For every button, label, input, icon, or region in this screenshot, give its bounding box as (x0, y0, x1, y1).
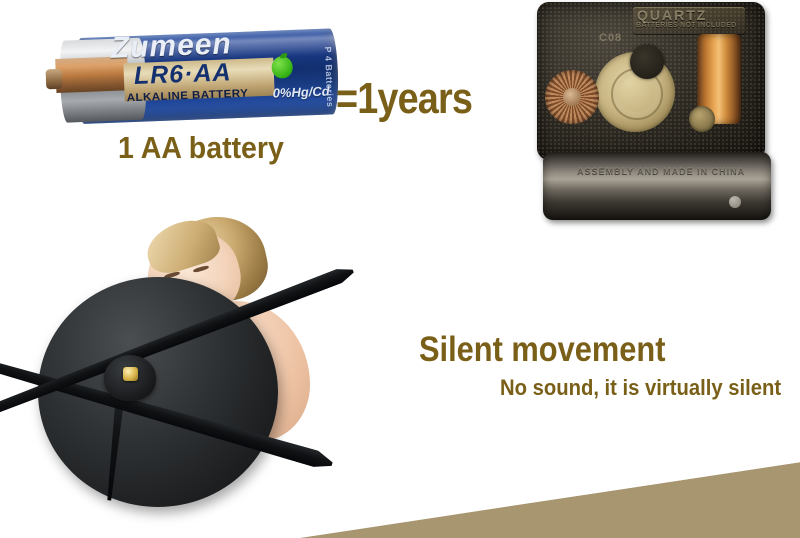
green-apple-icon (271, 56, 293, 79)
aa-battery-photo: Zumeen LR6·AA ALKALINE BATTERY 0%Hg/Cd P… (28, 18, 344, 138)
product-marketing-image: Zumeen LR6·AA ALKALINE BATTERY 0%Hg/Cd P… (0, 0, 800, 538)
battery-terminal-nub (46, 69, 63, 90)
movement-housing: QUARTZ BATTERIES NOT INCLUDED C08 (537, 2, 765, 160)
lid-screw-icon (729, 196, 741, 208)
battery-eco-text: 0%Hg/Cd (272, 84, 330, 101)
silent-movement-heading: Silent movement (419, 330, 665, 370)
battery-compartment-lid: ASSEMBLY AND MADE IN CHINA (543, 152, 771, 220)
battery-caption-label: 1 AA battery (118, 130, 284, 166)
pinion-gear-icon (630, 45, 664, 79)
movement-code-text: C08 (599, 32, 622, 44)
copper-rotor-icon (545, 70, 599, 124)
brass-contact-icon (689, 106, 715, 132)
battery-side-text: P 4 Batteries (323, 46, 335, 107)
brass-center-nut (123, 367, 138, 381)
clock-hands-composite (0, 215, 400, 515)
battery-model-text: LR6·AA (133, 58, 232, 91)
movement-quartz-text: QUARTZ (637, 7, 707, 23)
quartz-movement-photo: QUARTZ BATTERIES NOT INCLUDED C08 ASSEMB… (537, 2, 781, 224)
movement-emboss-plate: QUARTZ BATTERIES NOT INCLUDED (633, 7, 745, 35)
lid-emboss-text: ASSEMBLY AND MADE IN CHINA (577, 166, 745, 176)
lifetime-label: =1years (336, 74, 472, 124)
silent-movement-subtext: No sound, it is virtually silent (500, 375, 781, 401)
movement-battery-note-text: BATTERIES NOT INCLUDED (636, 22, 737, 29)
